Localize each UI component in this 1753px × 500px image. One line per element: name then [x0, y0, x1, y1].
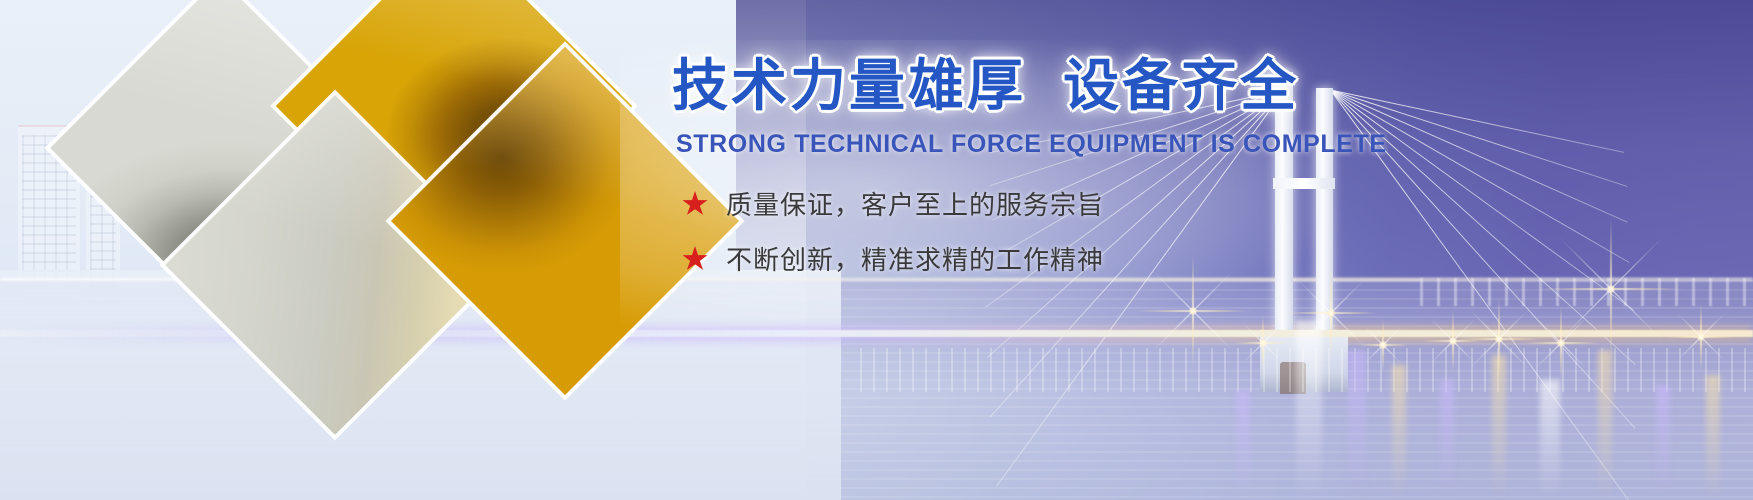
list-item: 不断创新，精准求精的工作精神: [682, 240, 1372, 277]
red-star-icon: [682, 191, 708, 217]
banner-headline: 技术力量雄厚 设备齐全: [672, 56, 1372, 116]
banner-subheadline: STRONG TECHNICAL FORCE EQUIPMENT IS COMP…: [676, 130, 1372, 159]
diamond-tile-group: [70, 0, 710, 500]
list-item: 质量保证，客户至上的服务宗旨: [682, 185, 1372, 222]
feature-list: 质量保证，客户至上的服务宗旨 不断创新，精准求精的工作精神: [682, 185, 1372, 277]
feature-text: 不断创新，精准求精的工作精神: [726, 240, 1104, 277]
red-star-icon: [682, 246, 708, 272]
promo-banner: 技术力量雄厚 设备齐全 STRONG TECHNICAL FORCE EQUIP…: [0, 0, 1753, 500]
banner-copy: 技术力量雄厚 设备齐全 STRONG TECHNICAL FORCE EQUIP…: [672, 56, 1372, 295]
feature-text: 质量保证，客户至上的服务宗旨: [726, 185, 1104, 222]
